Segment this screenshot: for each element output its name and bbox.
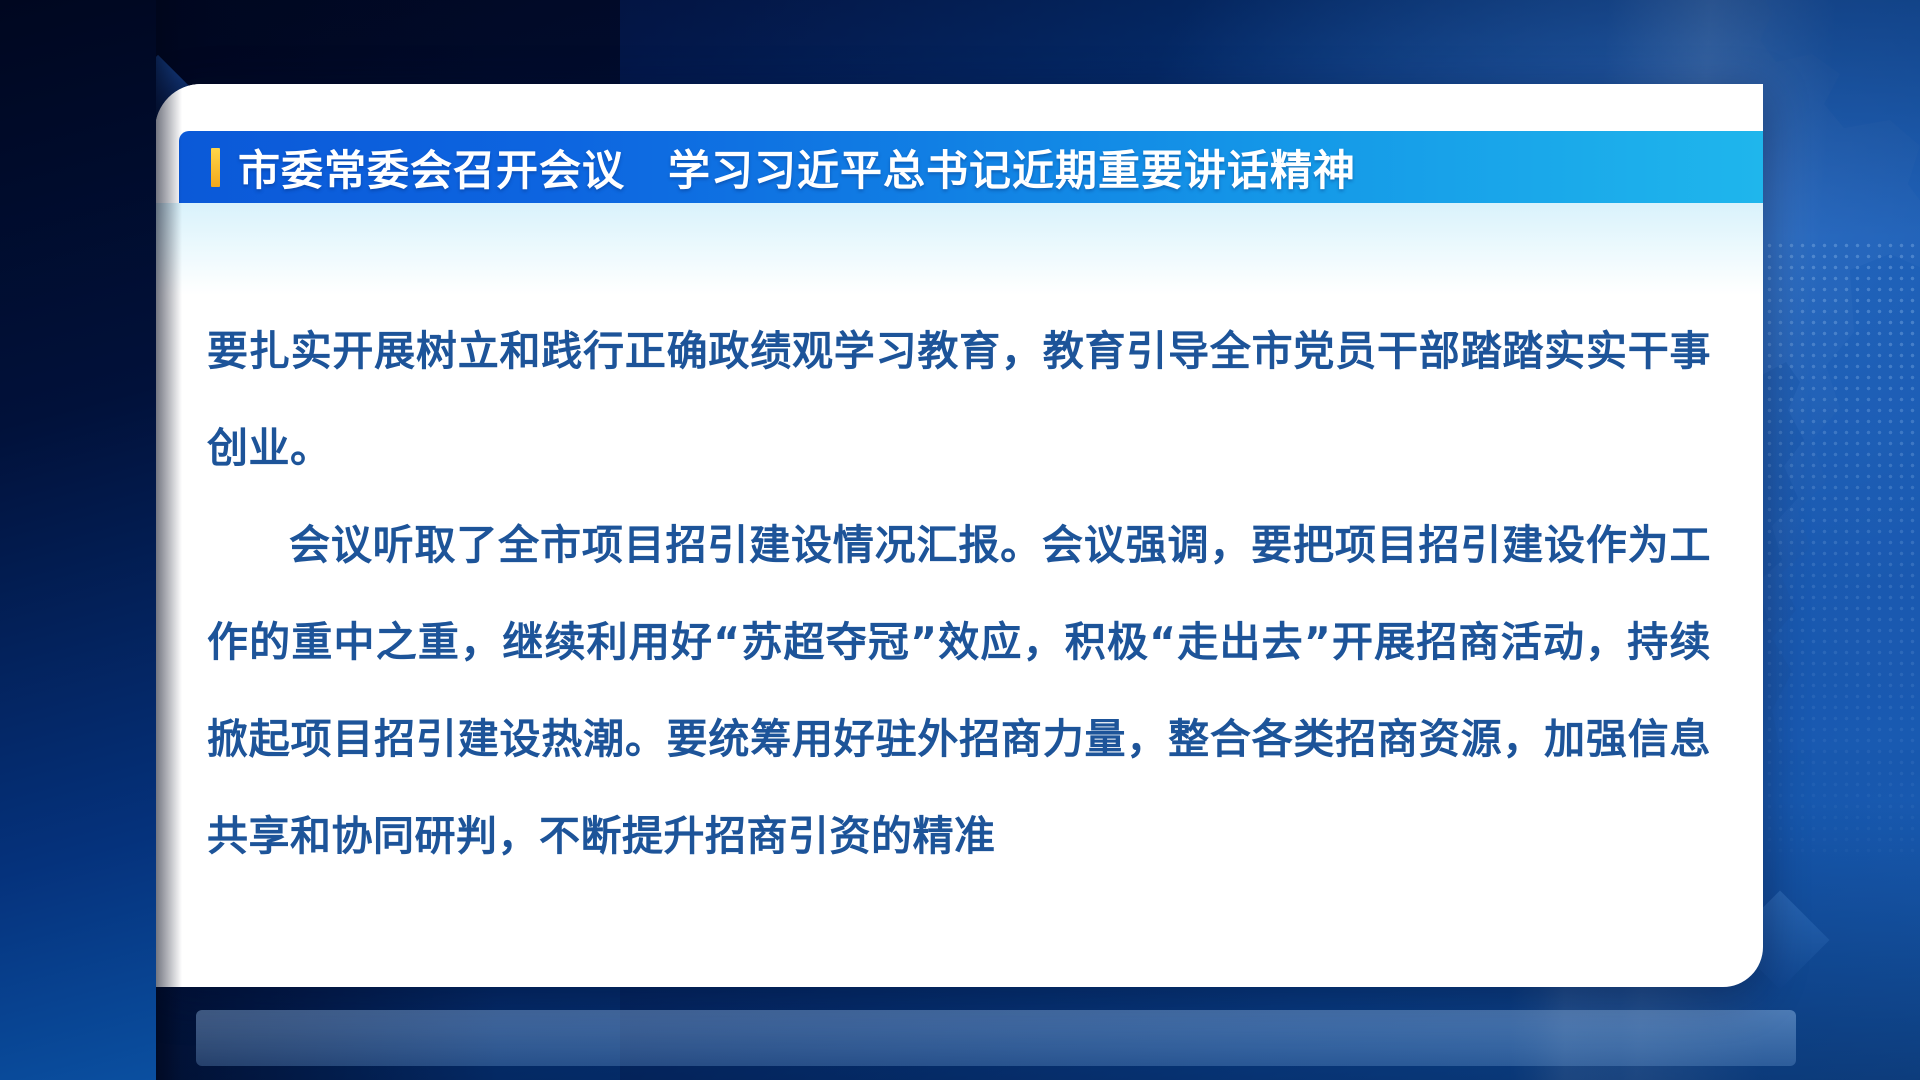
news-paragraph: 要扎实开展树立和践行正确政绩观学习教育，教育引导全市党员干部踏踏实实干事创业。 [207, 303, 1711, 497]
screen: 市委常委会召开会议 学习习近平总书记近期重要讲话精神 要扎实开展树立和践行正确政… [0, 0, 1920, 1080]
news-body: 要扎实开展树立和践行正确政绩观学习教育，教育引导全市党员干部踏踏实实干事创业。 … [155, 295, 1763, 885]
title-underfade [155, 203, 1763, 295]
left-edge-rail [0, 0, 156, 1080]
page-title: 市委常委会召开会议 学习习近平总书记近期重要讲话精神 [238, 137, 1356, 198]
news-title-bar: 市委常委会召开会议 学习习近平总书记近期重要讲话精神 [179, 131, 1763, 203]
card-drop-plate [196, 1010, 1796, 1066]
card-top-padding [155, 84, 1763, 131]
news-paragraph: 会议听取了全市项目招引建设情况汇报。会议强调，要把项目招引建设作为工作的重中之重… [207, 497, 1711, 885]
title-accent-bar-icon [211, 148, 220, 187]
news-card: 市委常委会召开会议 学习习近平总书记近期重要讲话精神 要扎实开展树立和践行正确政… [155, 84, 1763, 987]
